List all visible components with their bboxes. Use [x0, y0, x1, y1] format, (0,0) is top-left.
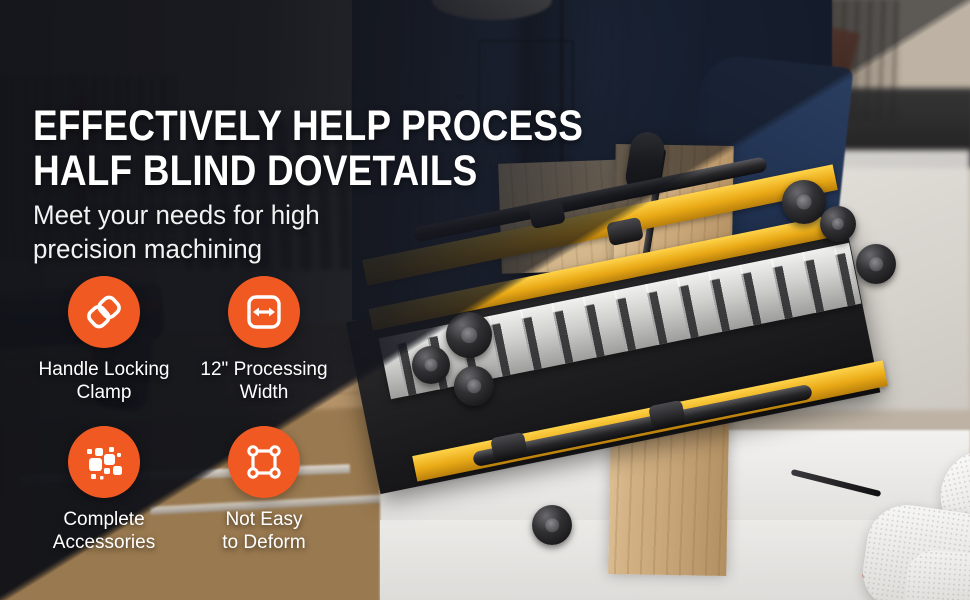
feature-label: Not Easy to Deform: [222, 508, 305, 554]
feature-badge: [68, 276, 140, 348]
feature-badge: [228, 276, 300, 348]
feature-label: Handle Locking Clamp: [39, 358, 170, 404]
feature-badge: [228, 426, 300, 498]
page-subtitle: Meet your needs for high precision machi…: [33, 198, 320, 266]
feature-label: 12" Processing Width: [200, 358, 327, 404]
feature-item-not-easy-to-deform: Not Easy to Deform: [184, 426, 344, 554]
square-corners-icon: [244, 442, 284, 482]
width-arrow-icon: [244, 292, 284, 332]
feature-item-complete-accessories: Complete Accessories: [24, 426, 184, 554]
page-title: EFFECTIVELY HELP PROCESS HALF BLIND DOVE…: [33, 104, 583, 194]
feature-label: Complete Accessories: [53, 508, 155, 554]
product-banner: EFFECTIVELY HELP PROCESS HALF BLIND DOVE…: [0, 0, 970, 600]
feature-badge: [68, 426, 140, 498]
feature-list: Handle Locking Clamp 12" Processing Widt…: [24, 276, 344, 554]
feature-item-processing-width: 12" Processing Width: [184, 276, 344, 404]
scattered-squares-icon: [83, 441, 125, 483]
chain-link-icon: [84, 292, 124, 332]
feature-item-handle-locking-clamp: Handle Locking Clamp: [24, 276, 184, 404]
